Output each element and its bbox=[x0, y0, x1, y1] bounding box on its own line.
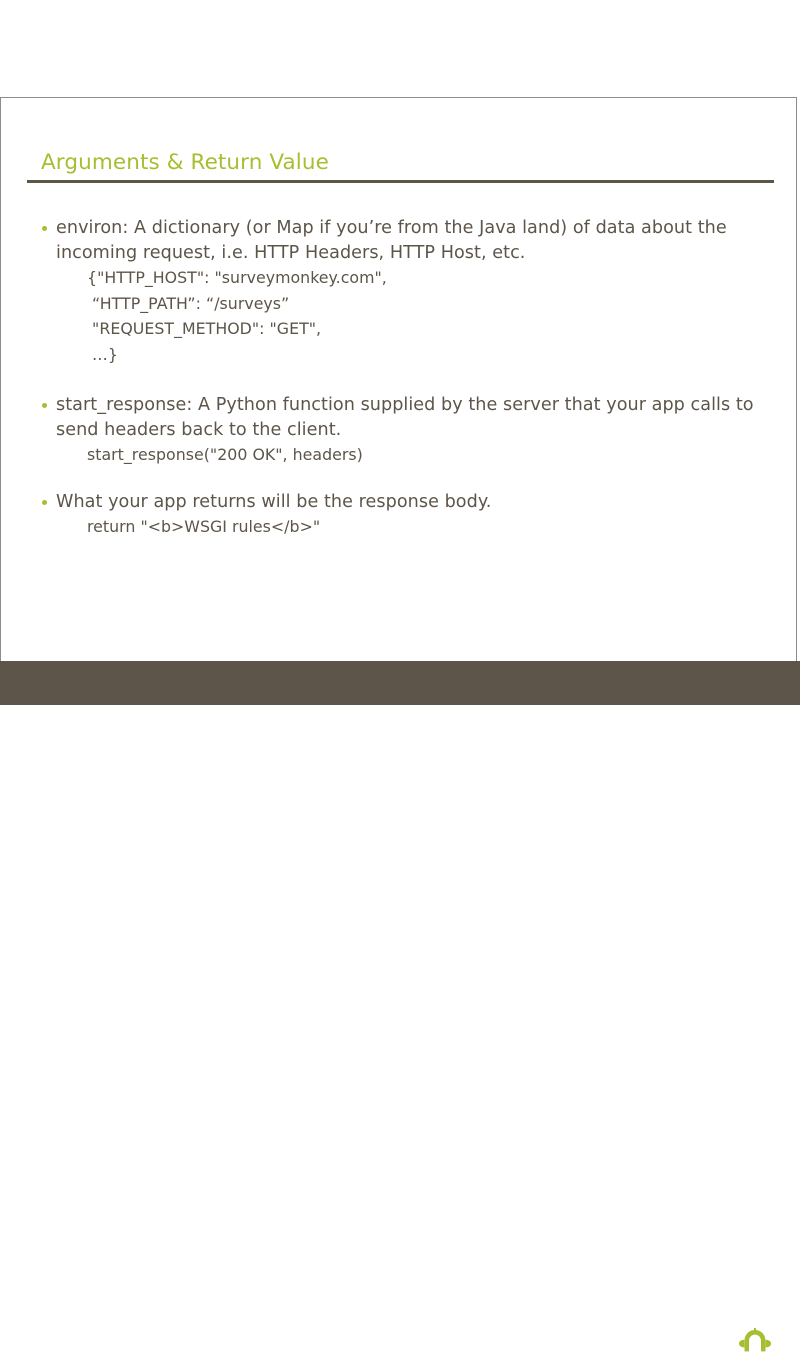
code-line-1-3: "REQUEST_METHOD": "GET", bbox=[39, 316, 779, 342]
spacer-1 bbox=[39, 367, 779, 393]
surveymonkey-logo-icon bbox=[738, 1328, 772, 1356]
bullet-text-1: environ: A dictionary (or Map if you’re … bbox=[56, 216, 779, 265]
bullet-item-1: environ: A dictionary (or Map if you’re … bbox=[39, 216, 779, 265]
code-line-1-1: {"HTTP_HOST": "surveymonkey.com", bbox=[39, 265, 779, 291]
code-line-2-1: start_response("200 OK", headers) bbox=[39, 442, 779, 468]
bullet-dot-icon bbox=[42, 500, 47, 505]
bullet-group-2: start_response: A Python function suppli… bbox=[39, 393, 779, 468]
title-block: Arguments & Return Value bbox=[41, 150, 781, 176]
code-line-3-1: return "<b>WSGI rules</b>" bbox=[39, 514, 779, 540]
code-line-1-4: …} bbox=[39, 342, 779, 368]
spacer-2 bbox=[39, 468, 779, 490]
bullet-item-2: start_response: A Python function suppli… bbox=[39, 393, 779, 442]
bullet-group-1: environ: A dictionary (or Map if you’re … bbox=[39, 216, 779, 367]
slide-canvas: Arguments & Return Value environ: A dict… bbox=[0, 0, 800, 800]
slide-frame: Arguments & Return Value environ: A dict… bbox=[0, 97, 797, 705]
bullet-group-3: What your app returns will be the respon… bbox=[39, 490, 779, 540]
bullet-dot-icon bbox=[42, 226, 47, 231]
bullet-text-2: start_response: A Python function suppli… bbox=[56, 393, 779, 442]
slide-body: environ: A dictionary (or Map if you’re … bbox=[39, 216, 779, 540]
code-line-1-2: “HTTP_PATH”: “/surveys” bbox=[39, 291, 779, 317]
footer-bar bbox=[0, 661, 800, 705]
title-underline-rule bbox=[27, 180, 774, 183]
page-title: Arguments & Return Value bbox=[41, 150, 781, 176]
bullet-dot-icon bbox=[42, 403, 47, 408]
bullet-item-3: What your app returns will be the respon… bbox=[39, 490, 779, 515]
bullet-text-3: What your app returns will be the respon… bbox=[56, 490, 779, 515]
